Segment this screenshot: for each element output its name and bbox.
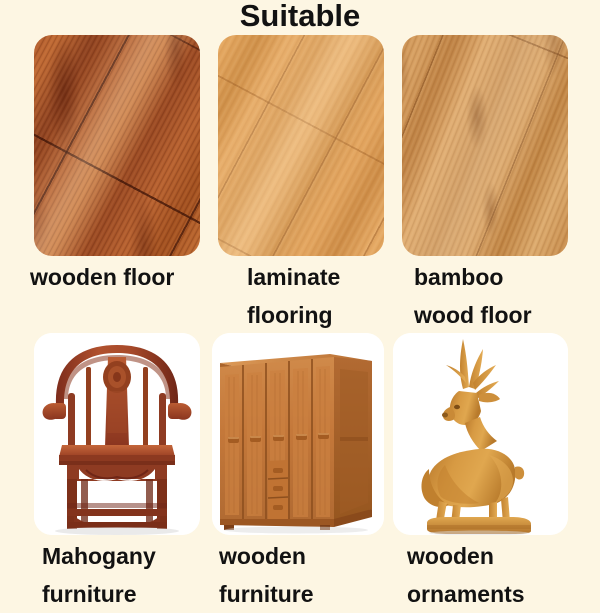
wooden-wardrobe-illustration (212, 333, 384, 535)
label-laminate-flooring: laminate flooring (247, 258, 417, 334)
product-feature-card: Suitable wooden floor laminate flooring (0, 0, 600, 600)
label-wooden-floor: wooden floor (30, 258, 220, 296)
image-tile-bamboo-wood-floor[interactable] (402, 35, 568, 256)
laminate-flooring-texture (218, 35, 384, 256)
image-tile-wooden-furniture[interactable] (212, 333, 384, 535)
carved-deer-ornament-illustration (393, 333, 568, 535)
image-tile-wooden-ornaments[interactable] (393, 333, 568, 535)
label-mahogany-furniture: Mahogany furniture (42, 537, 222, 613)
page-title: Suitable (0, 0, 600, 33)
image-tile-laminate-flooring[interactable] (218, 35, 384, 256)
label-bamboo-wood-floor: bamboo wood floor (414, 258, 594, 334)
wooden-floor-texture (34, 35, 200, 256)
image-tile-mahogany-furniture[interactable] (34, 333, 200, 535)
mahogany-armchair-illustration (34, 333, 200, 535)
label-wooden-furniture: wooden furniture (219, 537, 394, 613)
bamboo-wood-floor-texture (402, 35, 568, 256)
image-tile-wooden-floor[interactable] (34, 35, 200, 256)
label-wooden-ornaments: wooden ornaments (407, 537, 587, 613)
